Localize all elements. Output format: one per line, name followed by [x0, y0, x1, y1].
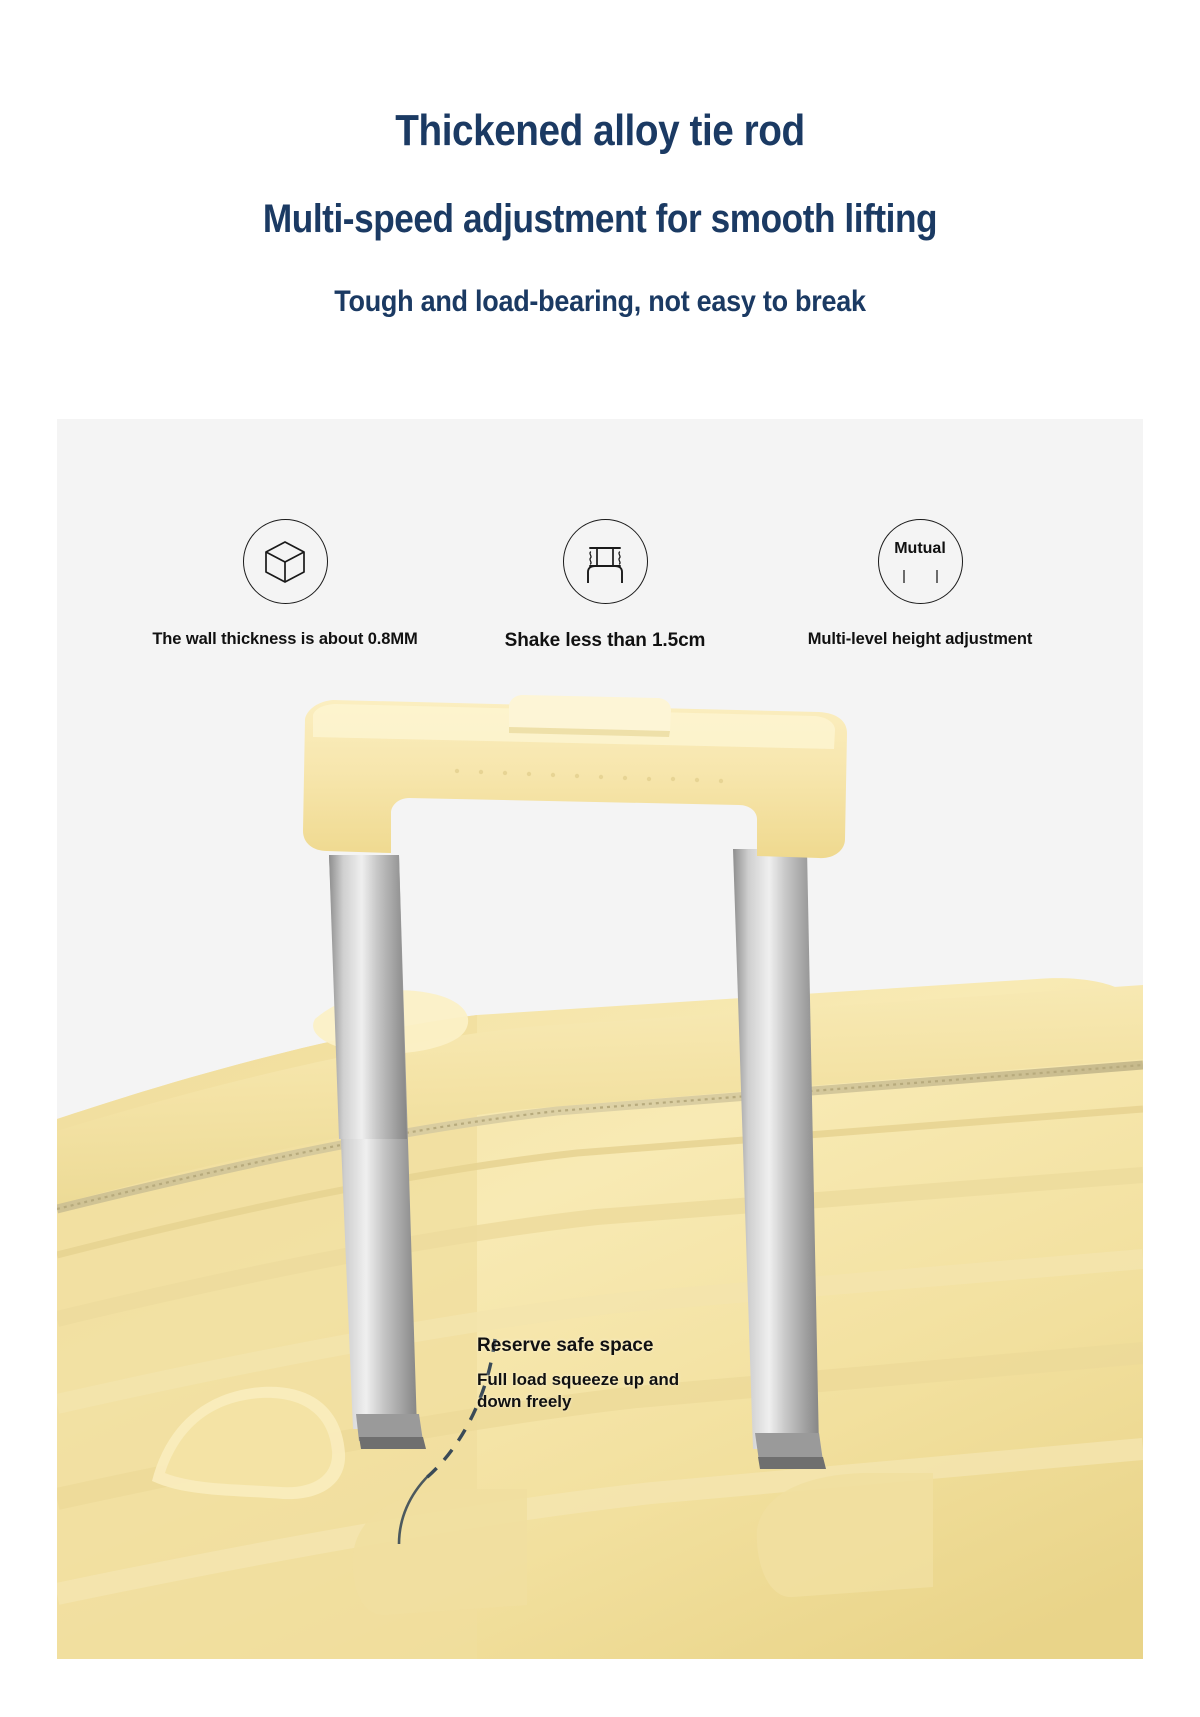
headings-block: Thickened alloy tie rod Multi-speed adju…: [0, 0, 1200, 318]
annotation-text: Reserve safe space Full load squeeze up …: [477, 1334, 717, 1413]
feature-caption: Shake less than 1.5cm: [505, 630, 706, 652]
product-panel: The wall thickness is about 0.8MM Shake …: [57, 419, 1143, 1659]
mutual-label: Mutual: [879, 540, 962, 558]
product-infographic: Thickened alloy tie rod Multi-speed adju…: [0, 0, 1200, 1717]
feature-row: The wall thickness is about 0.8MM Shake …: [57, 519, 1143, 652]
height-tick-left-icon: [903, 570, 905, 583]
feature-shake: Shake less than 1.5cm: [455, 519, 755, 652]
annotation-line-2: Full load squeeze up and down freely: [477, 1369, 717, 1413]
feature-height-adjust: Mutual Multi-level height adjustment: [755, 519, 1085, 649]
cube-icon: [259, 536, 311, 588]
feature-circle: [563, 519, 648, 604]
subtitle-secondary: Tough and load-bearing, not easy to brea…: [60, 286, 1140, 318]
feature-circle: [243, 519, 328, 604]
subtitle-primary: Multi-speed adjustment for smooth liftin…: [72, 198, 1128, 240]
shake-handle-icon: [577, 536, 633, 588]
feature-wall-thickness: The wall thickness is about 0.8MM: [115, 519, 455, 649]
feature-caption: The wall thickness is about 0.8MM: [152, 630, 417, 649]
feature-circle: Mutual: [878, 519, 963, 604]
annotation-line-1: Reserve safe space: [477, 1334, 717, 1358]
page-title: Thickened alloy tie rod: [72, 108, 1128, 154]
height-tick-right-icon: [936, 570, 938, 583]
feature-caption: Multi-level height adjustment: [808, 630, 1032, 649]
